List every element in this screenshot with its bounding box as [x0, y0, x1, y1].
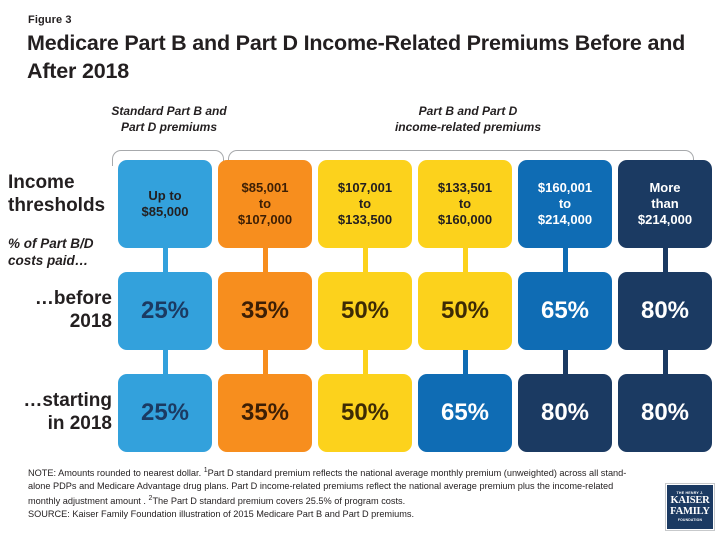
note-intro: NOTE: Amounts rounded to nearest dollar.: [28, 468, 204, 478]
premium-grid: Up to $85,00025%25%$85,001 to $107,00035…: [0, 0, 720, 539]
cell-threshold-col-3: $107,001 to $133,500: [318, 160, 412, 248]
cell-before-2018-col-5: 65%: [518, 272, 612, 350]
cell-threshold-col-5: $160,001 to $214,000: [518, 160, 612, 248]
cell-before-2018-col-3: 50%: [318, 272, 412, 350]
logo-line-3: FAMILY: [667, 507, 713, 518]
cell-threshold-col-2: $85,001 to $107,000: [218, 160, 312, 248]
cell-before-2018-col-6: 80%: [618, 272, 712, 350]
cell-starting-2018-col-4: 65%: [418, 374, 512, 452]
logo-line-4: FOUNDATION: [667, 519, 713, 522]
cell-starting-2018-col-1: 25%: [118, 374, 212, 452]
cell-threshold-col-6: More than $214,000: [618, 160, 712, 248]
cell-threshold-col-4: $133,501 to $160,000: [418, 160, 512, 248]
cell-before-2018-col-2: 35%: [218, 272, 312, 350]
cell-starting-2018-col-5: 80%: [518, 374, 612, 452]
kaiser-family-foundation-logo: THE HENRY J. KAISER FAMILY FOUNDATION: [666, 484, 714, 530]
cell-threshold-col-1: Up to $85,000: [118, 160, 212, 248]
cell-before-2018-col-4: 50%: [418, 272, 512, 350]
cell-starting-2018-col-6: 80%: [618, 374, 712, 452]
source-line: SOURCE: Kaiser Family Foundation illustr…: [28, 509, 414, 519]
cell-before-2018-col-1: 25%: [118, 272, 212, 350]
footnotes: NOTE: Amounts rounded to nearest dollar.…: [28, 466, 638, 522]
cell-starting-2018-col-2: 35%: [218, 374, 312, 452]
cell-starting-2018-col-3: 50%: [318, 374, 412, 452]
note-part-2: The Part D standard premium covers 25.5%…: [152, 496, 405, 506]
